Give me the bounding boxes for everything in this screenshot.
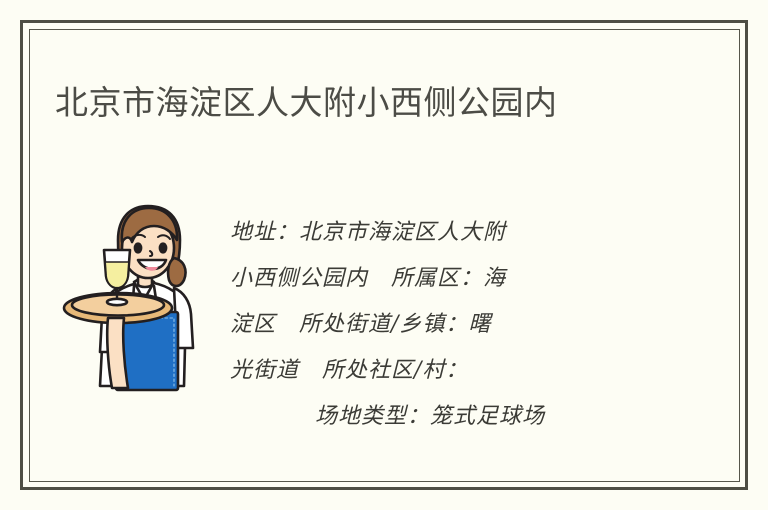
detail-line: 场地类型：笼式足球场	[230, 394, 630, 440]
waitress-icon	[50, 196, 230, 396]
content-area: 北京市海淀区人大附小西侧公园内	[30, 30, 740, 482]
page-root: 北京市海淀区人大附小西侧公园内	[0, 0, 768, 510]
detail-line: 小西侧公园内 所属区：海	[230, 256, 630, 302]
detail-line: 地址：北京市海淀区人大附	[230, 210, 630, 256]
page-title: 北京市海淀区人大附小西侧公园内	[55, 80, 695, 126]
detail-line: 光街道 所处社区/村：	[230, 348, 630, 394]
venue-details: 地址：北京市海淀区人大附 小西侧公园内 所属区：海 淀区 所处街道/乡镇：曙 光…	[230, 210, 630, 440]
waitress-illustration	[50, 196, 230, 396]
detail-line: 淀区 所处街道/乡镇：曙	[230, 302, 630, 348]
